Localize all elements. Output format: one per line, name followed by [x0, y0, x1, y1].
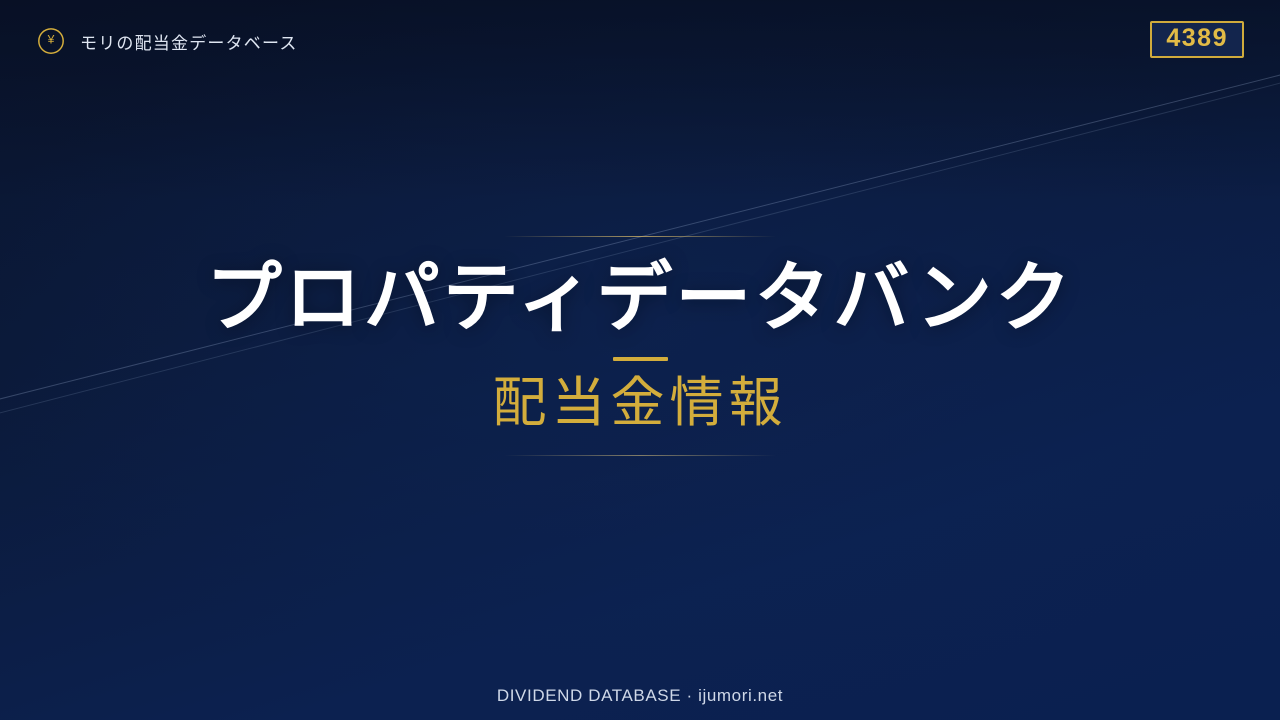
ticker-badge: 4389	[1150, 21, 1244, 58]
hero-subtitle: 配当金情報	[493, 375, 788, 432]
brand: ¥ モリの配当金データベース	[36, 26, 298, 56]
slide-header: ¥ モリの配当金データベース 4389	[0, 0, 1280, 92]
title-slide: ¥ モリの配当金データベース 4389 プロパティデータバンク 配当金情報 DI…	[0, 0, 1280, 720]
hero-top-divider	[504, 236, 776, 237]
hero-bottom-divider	[504, 455, 776, 456]
company-name-title: プロパティデータバンク	[206, 259, 1074, 339]
hero-block: プロパティデータバンク 配当金情報	[0, 236, 1280, 456]
footer-credit: DIVIDEND DATABASE · ijumori.net	[0, 686, 1280, 706]
brand-name: モリの配当金データベース	[80, 29, 298, 54]
yen-circle-icon: ¥	[36, 26, 66, 56]
gold-accent-bar	[613, 357, 668, 361]
svg-text:¥: ¥	[47, 32, 55, 46]
